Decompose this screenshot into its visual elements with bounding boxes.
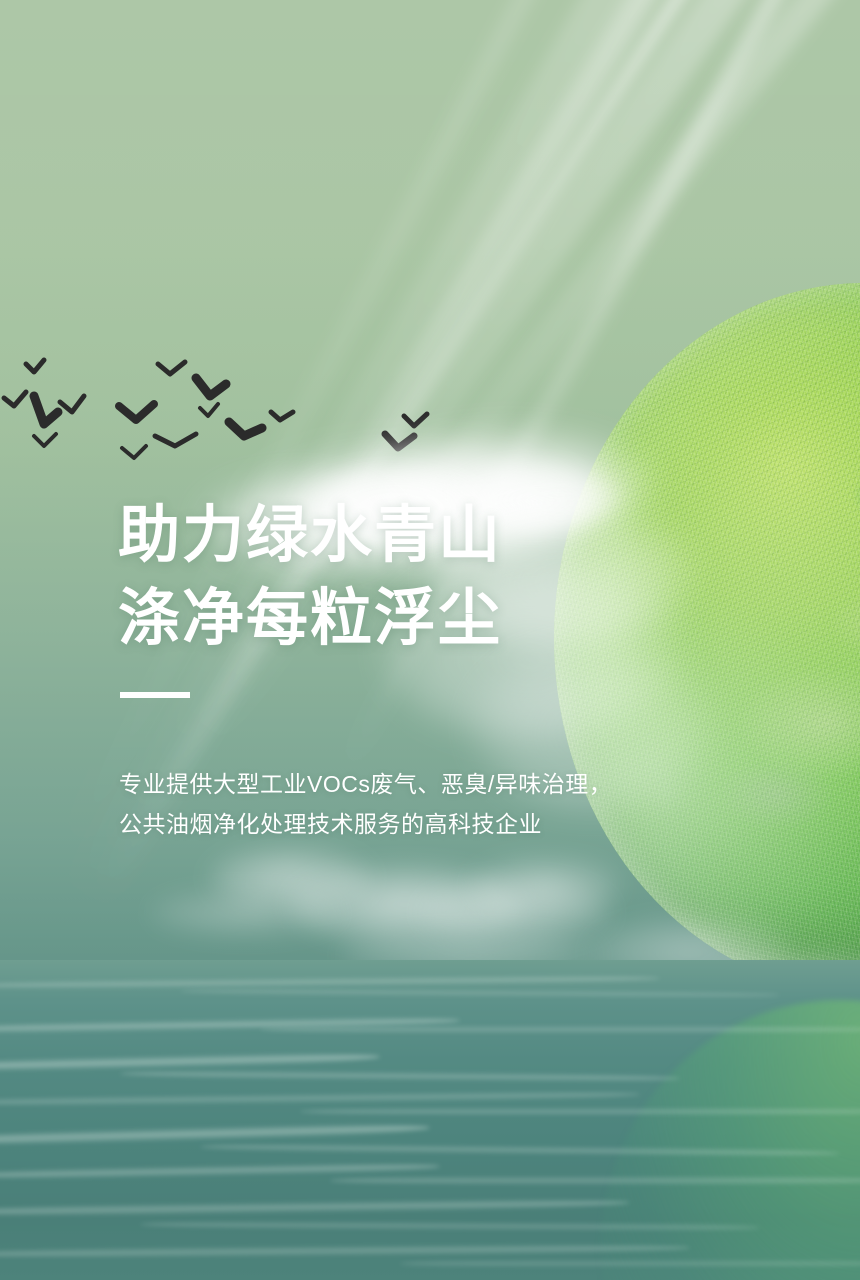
page-subtitle: 专业提供大型工业VOCs废气、恶臭/异味治理， 公共油烟净化处理技术服务的高科技… [119,764,612,844]
poster-canvas: 助力绿水青山 涤净每粒浮尘 专业提供大型工业VOCs废气、恶臭/异味治理， 公共… [0,0,860,1280]
subtitle-line-2: 公共油烟净化处理技术服务的高科技企业 [119,804,612,844]
page-title: 助力绿水青山 涤净每粒浮尘 [118,494,502,660]
poster-content: 助力绿水青山 涤净每粒浮尘 专业提供大型工业VOCs废气、恶臭/异味治理， 公共… [0,0,860,1280]
headline-line-2: 涤净每粒浮尘 [118,577,502,660]
subtitle-line-1: 专业提供大型工业VOCs废气、恶臭/异味治理， [119,764,612,804]
headline-line-1: 助力绿水青山 [118,494,502,577]
white-rule-divider [120,692,190,698]
